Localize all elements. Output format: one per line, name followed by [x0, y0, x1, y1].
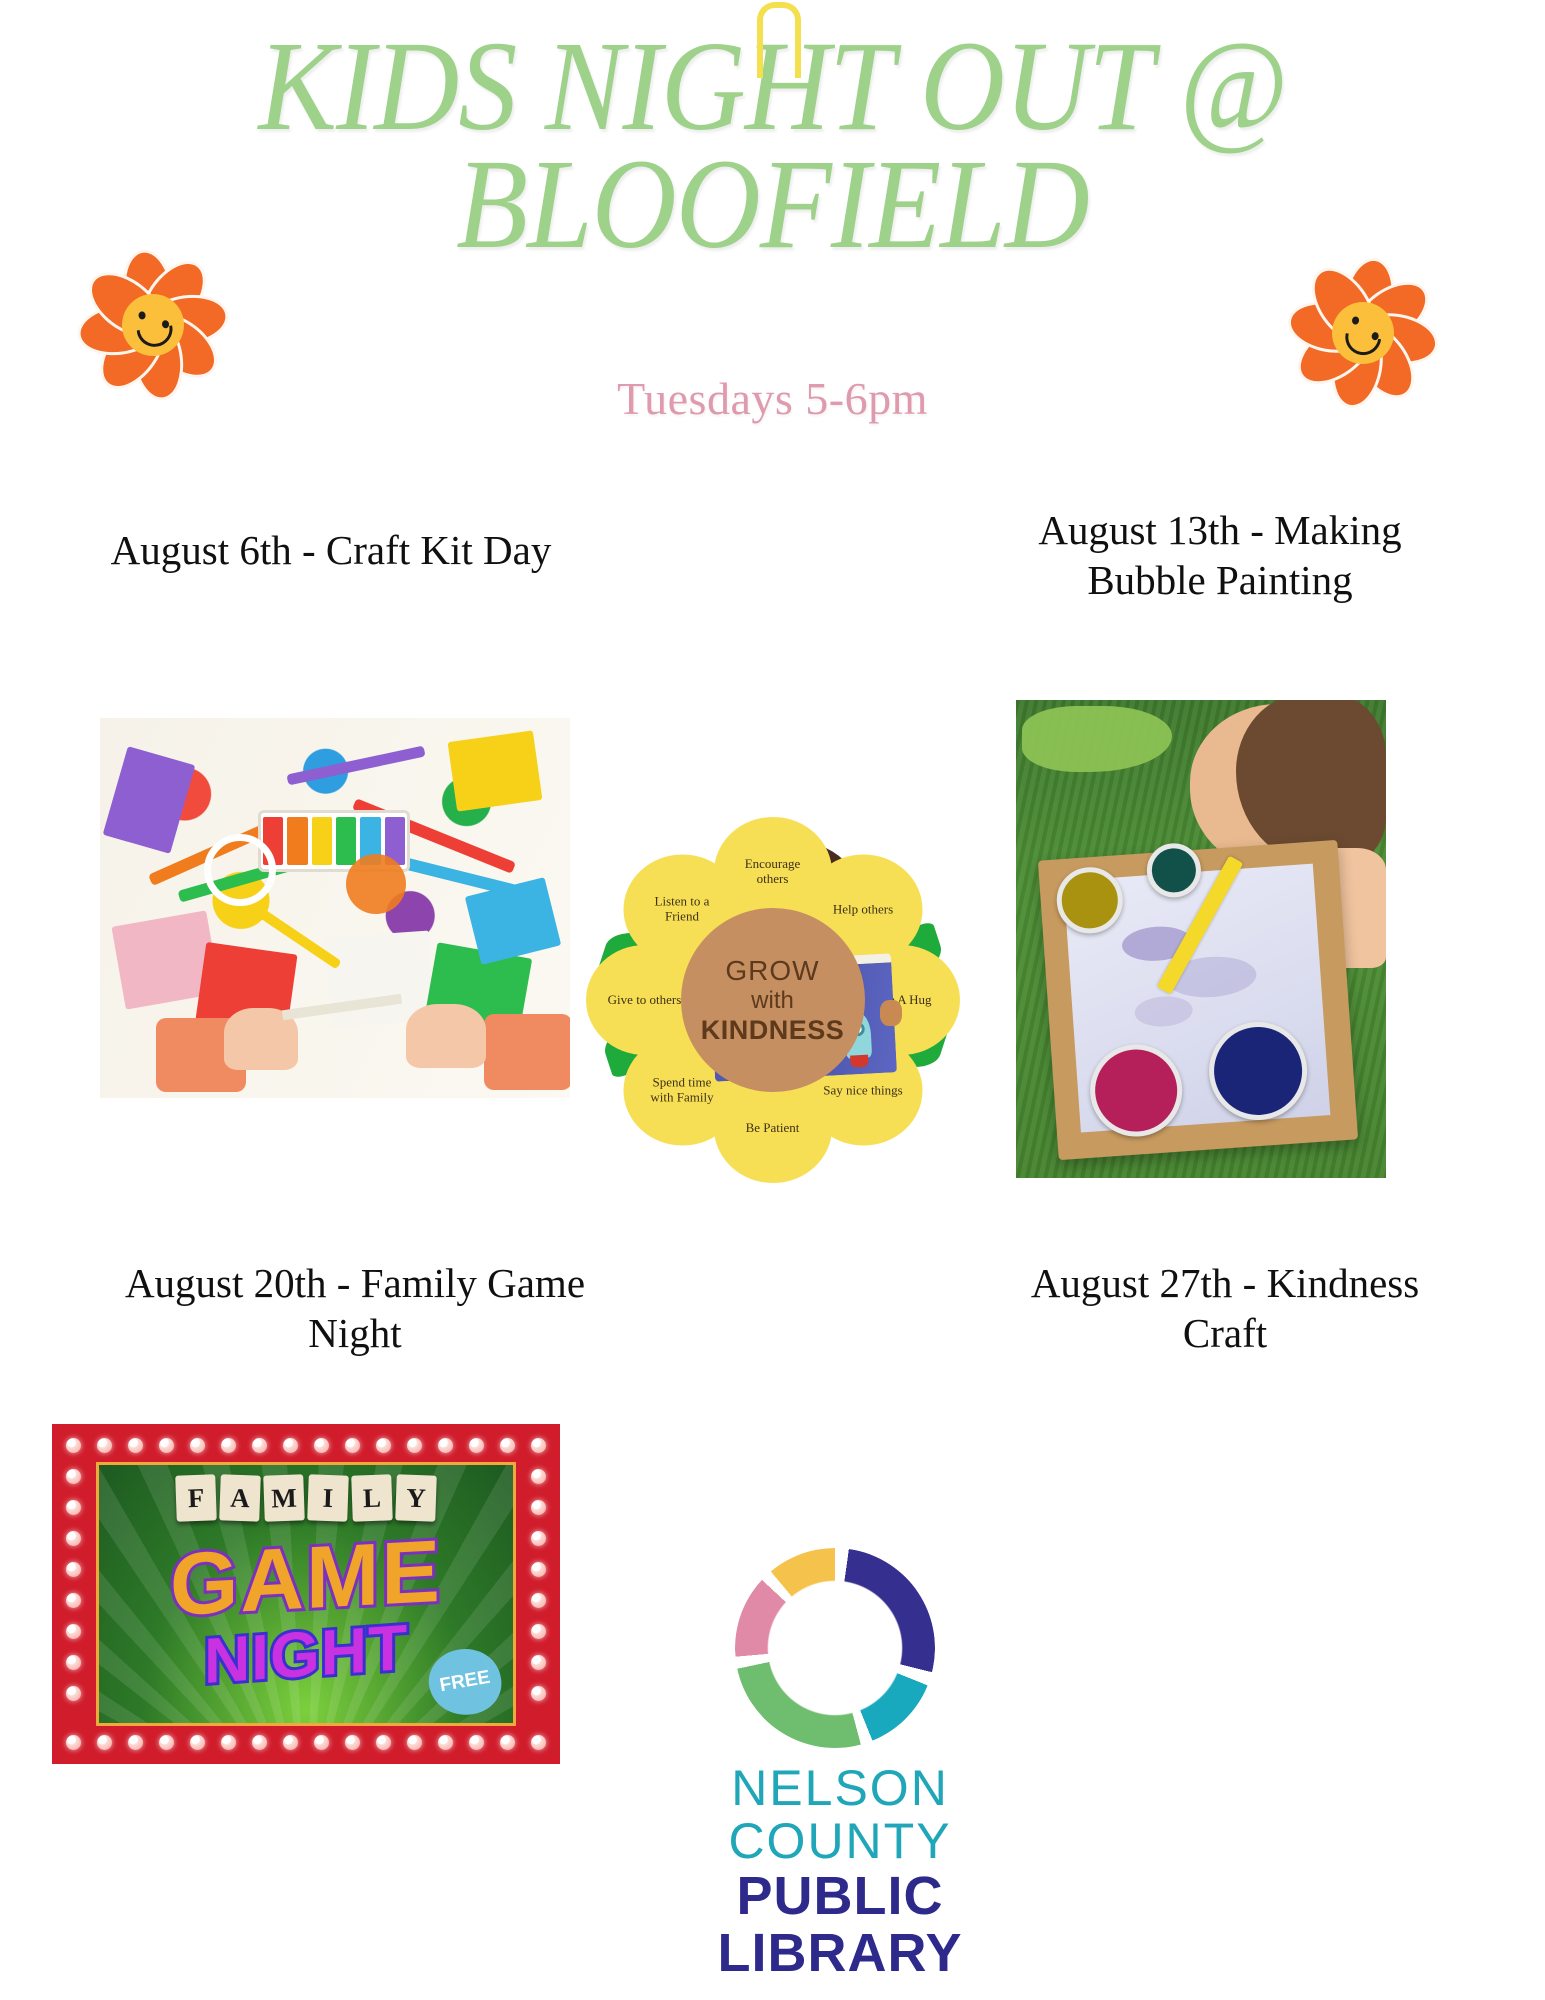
- scrabble-tile: F: [175, 1474, 217, 1521]
- marquee-bulb: [66, 1562, 81, 1577]
- marquee-bulb: [66, 1735, 81, 1750]
- event-heading-4: August 27th - Kindness Craft: [1010, 1258, 1440, 1358]
- marquee-bulb: [159, 1438, 174, 1453]
- marquee-bulb: [438, 1438, 453, 1453]
- marquee-bulb: [314, 1438, 329, 1453]
- scrabble-tile: L: [351, 1474, 393, 1521]
- marquee-bulb: [66, 1438, 81, 1453]
- marquee-bulb: [66, 1500, 81, 1515]
- poster-canvas: KIDS NIGHT OUT @ BLOOFIELD Tuesdays 5-6p…: [0, 0, 1545, 2000]
- marquee-bulb: [438, 1735, 453, 1750]
- marquee-bulb: [531, 1624, 546, 1639]
- kindness-petal-label: Give to others: [604, 993, 686, 1008]
- marquee-bulb: [97, 1438, 112, 1453]
- marquee-bulb: [221, 1735, 236, 1750]
- marquee-bulb: [376, 1735, 391, 1750]
- marquee-bulb: [345, 1438, 360, 1453]
- family-game-night-graphic: FAMILY GAME NIGHT FREE: [52, 1424, 560, 1764]
- kindness-center-line2: with: [751, 987, 794, 1015]
- scrabble-tiles: FAMILY: [176, 1475, 436, 1521]
- kindness-center-line3: KINDNESS: [701, 1015, 845, 1046]
- marquee-bulb: [66, 1655, 81, 1670]
- night-word: NIGHT: [204, 1610, 408, 1698]
- marquee-bulb: [531, 1562, 546, 1577]
- hanger-loop-icon: [757, 2, 801, 78]
- marquee-bulb: [345, 1735, 360, 1750]
- marquee-bulb: [66, 1624, 81, 1639]
- bubble-painting-photo: [1016, 700, 1386, 1178]
- marquee-bulb: [531, 1593, 546, 1608]
- marquee-bulb: [66, 1531, 81, 1546]
- title-line-2: BLOOFIELD: [62, 146, 1483, 264]
- kindness-center: GROW with KINDNESS: [681, 908, 865, 1092]
- scrabble-tile: Y: [395, 1474, 437, 1521]
- kindness-petal-label: Listen to a Friend: [641, 895, 723, 925]
- kindness-petal-label: Encourage others: [732, 857, 814, 887]
- marquee-bulb: [66, 1686, 81, 1701]
- kindness-petal-label: Be Patient: [732, 1121, 814, 1136]
- marquee-bulb: [314, 1735, 329, 1750]
- marquee-bulb: [531, 1686, 546, 1701]
- kindness-center-line1: GROW: [725, 955, 819, 987]
- marquee-bulb: [531, 1469, 546, 1484]
- event-heading-1: August 6th - Craft Kit Day: [96, 525, 566, 575]
- marquee-bulb: [500, 1438, 515, 1453]
- craft-supplies-photo: [100, 718, 570, 1098]
- marquee-bulb: [283, 1735, 298, 1750]
- smiley-flower-icon: [1276, 246, 1450, 420]
- marquee-bulb: [283, 1438, 298, 1453]
- logo-line-4: LIBRARY: [560, 1925, 1120, 1982]
- marquee-bulb: [500, 1735, 515, 1750]
- marquee-bulb: [190, 1438, 205, 1453]
- kindness-petal-label: Say nice things: [822, 1083, 904, 1098]
- scrabble-tile: I: [307, 1474, 349, 1521]
- marquee-bulb: [252, 1438, 267, 1453]
- logo-line-1: NELSON: [560, 1762, 1120, 1815]
- marquee-bulb: [407, 1438, 422, 1453]
- event-heading-2: August 13th - Making Bubble Painting: [1010, 505, 1430, 605]
- marquee-bulb: [407, 1735, 422, 1750]
- nelson-county-public-library-ring-logo: [735, 1548, 935, 1748]
- logo-line-2: COUNTY: [560, 1815, 1120, 1868]
- marquee-bulb: [128, 1735, 143, 1750]
- marquee-bulb: [469, 1735, 484, 1750]
- marquee-bulb: [66, 1593, 81, 1608]
- event-heading-3: August 20th - Family Game Night: [110, 1258, 600, 1358]
- kindness-petal-label: Spend time with Family: [641, 1076, 723, 1106]
- marquee-bulb: [531, 1531, 546, 1546]
- marquee-bulb: [531, 1500, 546, 1515]
- marquee-bulb: [97, 1735, 112, 1750]
- marquee-bulb: [376, 1438, 391, 1453]
- marquee-bulb: [469, 1438, 484, 1453]
- scrabble-tile: M: [263, 1474, 305, 1521]
- marquee-bulb: [128, 1438, 143, 1453]
- marquee-bulb: [252, 1735, 267, 1750]
- marquee-bulb: [66, 1469, 81, 1484]
- library-wordmark: NELSON COUNTY PUBLIC LIBRARY: [560, 1762, 1120, 1982]
- marquee-bulb: [221, 1438, 236, 1453]
- logo-line-3: PUBLIC: [560, 1868, 1120, 1925]
- kindness-petal-label: Help others: [822, 902, 904, 917]
- marquee-bulb: [159, 1735, 174, 1750]
- smiley-flower-icon: [68, 240, 237, 409]
- marquee-bulb: [531, 1655, 546, 1670]
- marquee-bulb: [190, 1735, 205, 1750]
- marquee-bulb: [531, 1438, 546, 1453]
- scrabble-tile: A: [219, 1474, 261, 1521]
- marquee-bulb: [531, 1735, 546, 1750]
